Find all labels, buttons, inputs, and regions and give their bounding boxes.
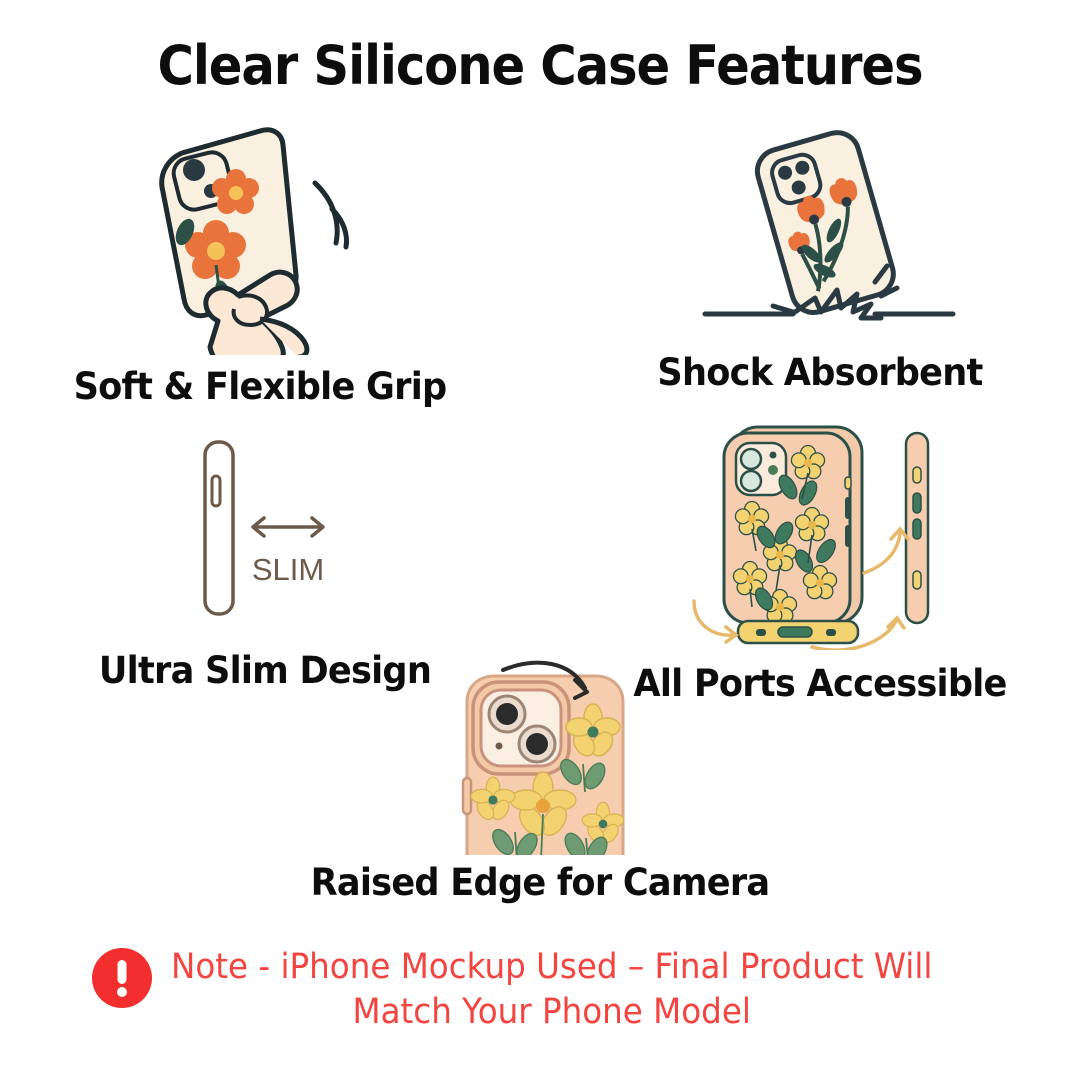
note-text: Note - iPhone Mockup Used – Final Produc… xyxy=(171,945,932,1035)
phone-impact-icon xyxy=(675,122,965,337)
phone-camera-bump-icon xyxy=(425,660,655,855)
feature-ultra-slim-design: SLIM Ultra Slim Design xyxy=(45,430,485,692)
feature-raised-edge-camera: Raised Edge for Camera xyxy=(280,660,800,904)
feature-label: Soft & Flexible Grip xyxy=(51,365,469,408)
feature-label: Raised Edge for Camera xyxy=(293,861,787,904)
feature-label: Shock Absorbent xyxy=(611,351,1029,394)
phone-side-profile-icon: SLIM xyxy=(150,430,380,625)
feature-infographic: Clear Silicone Case Features xyxy=(0,0,1080,1080)
disclaimer-note: Note - iPhone Mockup Used – Final Produc… xyxy=(0,945,1080,1035)
feature-soft-flexible-grip: Soft & Flexible Grip xyxy=(40,125,480,408)
phone-ports-icon xyxy=(680,415,960,650)
hand-holding-flexible-case-icon xyxy=(110,125,410,355)
page-title: Clear Silicone Case Features xyxy=(43,34,1037,97)
feature-shock-absorbent: Shock Absorbent xyxy=(600,122,1040,394)
exclamation-circle-icon xyxy=(91,947,153,1009)
note-line-2: Match Your Phone Model xyxy=(171,990,932,1035)
slim-callout-label: SLIM xyxy=(252,552,324,587)
note-line-1: Note - iPhone Mockup Used – Final Produc… xyxy=(171,947,932,987)
